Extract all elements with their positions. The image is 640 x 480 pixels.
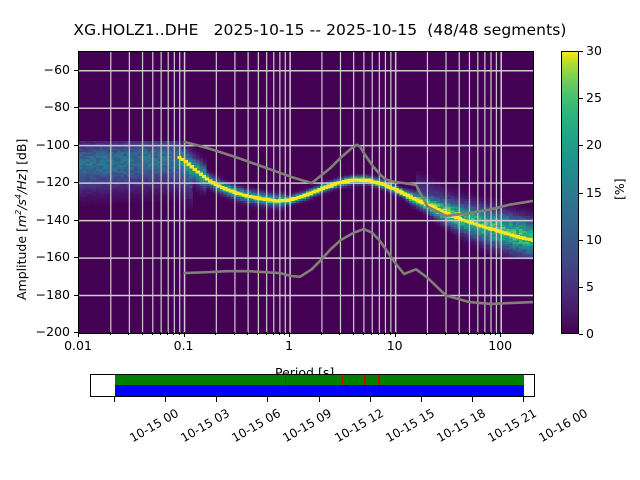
y-tick-label: −100 bbox=[26, 137, 70, 152]
timeline-date-label: 10-15 21 bbox=[485, 406, 539, 445]
x-tick-label: 0.1 bbox=[154, 338, 214, 353]
timeline-date-label: 10-15 09 bbox=[281, 406, 335, 445]
timeline-date-label: 10-16 00 bbox=[536, 406, 590, 445]
y-tick-mark bbox=[74, 220, 78, 221]
colorbar-tick-label: 20 bbox=[586, 137, 602, 152]
timeline-tick-mark bbox=[114, 397, 115, 402]
x-minor-tick-mark bbox=[426, 332, 427, 335]
ppsd-plot-area bbox=[78, 51, 534, 334]
y-tick-label: −160 bbox=[26, 249, 70, 264]
x-minor-tick-mark bbox=[458, 332, 459, 335]
timeline-tick-mark bbox=[472, 397, 473, 402]
y-tick-label: −80 bbox=[26, 99, 70, 114]
x-tick-mark bbox=[395, 332, 396, 337]
x-tick-label: 100 bbox=[470, 338, 530, 353]
x-minor-tick-mark bbox=[160, 332, 161, 335]
timeline-tick-mark bbox=[523, 397, 524, 402]
coverage-bands bbox=[115, 375, 524, 396]
time-coverage-strip[interactable] bbox=[90, 374, 535, 397]
y-tick-label: −200 bbox=[26, 324, 70, 339]
timeline-tick-mark bbox=[370, 397, 371, 402]
ppsd-figure: XG.HOLZ1..DHE 2025-10-15 -- 2025-10-15 (… bbox=[0, 0, 640, 480]
colorbar-tick-label: 0 bbox=[586, 326, 594, 341]
x-minor-tick-mark bbox=[215, 332, 216, 335]
timeline-tick-mark bbox=[319, 397, 320, 402]
x-minor-tick-mark bbox=[173, 332, 174, 335]
timeline-tick-mark bbox=[421, 397, 422, 402]
x-minor-tick-mark bbox=[371, 332, 372, 335]
x-tick-mark bbox=[500, 332, 501, 337]
colorbar-tick-label: 5 bbox=[586, 279, 594, 294]
timeline-tick-mark bbox=[267, 397, 268, 402]
density-raster bbox=[79, 141, 533, 259]
timeline-event-marker bbox=[378, 375, 379, 385]
x-minor-tick-mark bbox=[273, 332, 274, 335]
x-minor-tick-mark bbox=[266, 332, 267, 335]
x-minor-tick-mark bbox=[247, 332, 248, 335]
y-tick-mark bbox=[74, 107, 78, 108]
timeline-date-label: 10-15 00 bbox=[127, 406, 181, 445]
y-tick-label: −60 bbox=[26, 62, 70, 77]
x-minor-tick-mark bbox=[339, 332, 340, 335]
x-minor-tick-mark bbox=[353, 332, 354, 335]
x-minor-tick-mark bbox=[477, 332, 478, 335]
timeline-event-marker bbox=[364, 375, 365, 385]
y-tick-mark bbox=[74, 182, 78, 183]
colorbar-tick-mark bbox=[579, 334, 583, 335]
x-tick-mark bbox=[289, 332, 290, 337]
page-title: XG.HOLZ1..DHE 2025-10-15 -- 2025-10-15 (… bbox=[0, 21, 640, 39]
ppsd-canvas bbox=[79, 52, 533, 333]
colorbar bbox=[561, 51, 579, 334]
timeline-tick-mark bbox=[165, 397, 166, 402]
timeline-event-marker bbox=[342, 375, 343, 385]
x-minor-tick-mark bbox=[363, 332, 364, 335]
x-tick-label: 1 bbox=[259, 338, 319, 353]
y-tick-mark bbox=[74, 145, 78, 146]
colorbar-tick-mark bbox=[579, 287, 583, 288]
x-minor-tick-mark bbox=[321, 332, 322, 335]
colorbar-tick-label: 15 bbox=[586, 185, 602, 200]
colorbar-tick-label: 25 bbox=[586, 90, 602, 105]
x-minor-tick-mark bbox=[110, 332, 111, 335]
timeline-event-marker bbox=[285, 375, 286, 385]
x-minor-tick-mark bbox=[284, 332, 285, 335]
x-minor-tick-mark bbox=[167, 332, 168, 335]
x-minor-tick-mark bbox=[142, 332, 143, 335]
y-tick-mark bbox=[74, 70, 78, 71]
colorbar-tick-mark bbox=[579, 145, 583, 146]
timeline-date-label: 10-15 18 bbox=[434, 406, 488, 445]
x-minor-tick-mark bbox=[495, 332, 496, 335]
x-minor-tick-mark bbox=[445, 332, 446, 335]
x-tick-mark bbox=[78, 332, 79, 337]
x-tick-label: 0.01 bbox=[48, 338, 108, 353]
colorbar-tick-mark bbox=[579, 193, 583, 194]
x-minor-tick-mark bbox=[152, 332, 153, 335]
y-tick-label: −120 bbox=[26, 174, 70, 189]
coverage-band-blue bbox=[115, 385, 524, 396]
colorbar-tick-label: 10 bbox=[586, 232, 602, 247]
colorbar-tick-label: 30 bbox=[586, 43, 602, 58]
colorbar-label: [%] bbox=[612, 178, 627, 200]
x-minor-tick-mark bbox=[378, 332, 379, 335]
x-minor-tick-mark bbox=[128, 332, 129, 335]
x-minor-tick-mark bbox=[179, 332, 180, 335]
y-tick-label: −140 bbox=[26, 212, 70, 227]
timeline-date-label: 10-15 15 bbox=[383, 406, 437, 445]
x-minor-tick-mark bbox=[490, 332, 491, 335]
x-tick-mark bbox=[184, 332, 185, 337]
x-tick-label: 10 bbox=[365, 338, 425, 353]
coverage-band-green bbox=[115, 375, 524, 385]
x-minor-tick-mark bbox=[390, 332, 391, 335]
x-minor-tick-mark bbox=[384, 332, 385, 335]
x-minor-tick-mark bbox=[234, 332, 235, 335]
x-minor-tick-mark bbox=[484, 332, 485, 335]
timeline-date-label: 10-15 06 bbox=[229, 406, 283, 445]
y-tick-mark bbox=[74, 295, 78, 296]
x-minor-tick-mark bbox=[468, 332, 469, 335]
colorbar-tick-mark bbox=[579, 98, 583, 99]
colorbar-tick-mark bbox=[579, 240, 583, 241]
x-minor-tick-mark bbox=[257, 332, 258, 335]
y-tick-mark bbox=[74, 257, 78, 258]
colorbar-tick-mark bbox=[579, 51, 583, 52]
timeline-tick-mark bbox=[216, 397, 217, 402]
y-tick-label: −180 bbox=[26, 287, 70, 302]
timeline-date-label: 10-15 12 bbox=[332, 406, 386, 445]
x-minor-tick-mark bbox=[279, 332, 280, 335]
timeline-date-label: 10-15 03 bbox=[178, 406, 232, 445]
x-minor-tick-mark bbox=[532, 332, 533, 335]
